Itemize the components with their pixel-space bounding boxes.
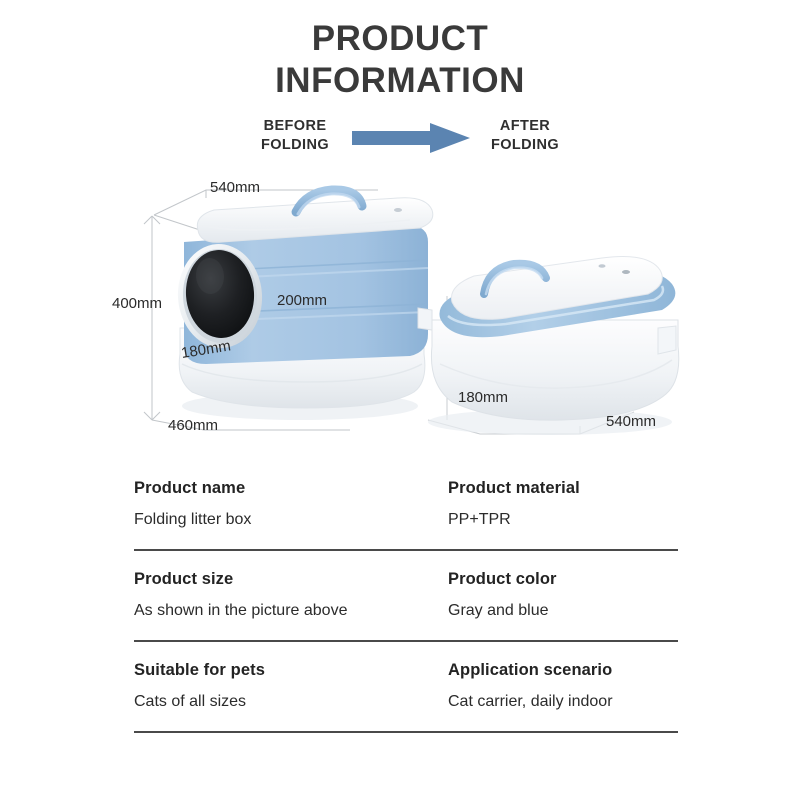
spec-row: Product size As shown in the picture abo… [134, 569, 678, 660]
spec-value: As shown in the picture above [134, 601, 454, 621]
spec-row-divider [134, 549, 678, 551]
spec-key: Suitable for pets [134, 660, 454, 680]
dimension-label-200mm: 200mm [277, 292, 327, 309]
arrow-right-icon [352, 123, 470, 153]
dimension-label-540mm-top: 540mm [210, 179, 260, 196]
after-folding-label: AFTER FOLDING [470, 117, 580, 155]
spec-value: PP+TPR [448, 510, 768, 530]
dimension-label-400mm: 400mm [112, 295, 162, 312]
spec-cell-product-color: Product color Gray and blue [448, 569, 768, 621]
spec-key: Product name [134, 478, 454, 498]
dimension-label-540mm-folded: 540mm [606, 413, 656, 430]
page-title-line-1: PRODUCT [0, 18, 800, 60]
spec-value: Cats of all sizes [134, 692, 454, 712]
spec-cell-application-scenario: Application scenario Cat carrier, daily … [448, 660, 768, 712]
spec-key: Product color [448, 569, 768, 589]
before-folding-label: BEFORE FOLDING [240, 117, 350, 155]
before-folding-line-2: FOLDING [240, 136, 350, 155]
spec-row: Suitable for pets Cats of all sizes Appl… [134, 660, 678, 751]
spec-value: Gray and blue [448, 601, 768, 621]
after-folding-line-1: AFTER [470, 117, 580, 136]
dimension-label-180mm-folded: 180mm [458, 389, 508, 406]
spec-row-divider [134, 731, 678, 733]
spec-key: Application scenario [448, 660, 768, 680]
spec-key: Product material [448, 478, 768, 498]
spec-value: Cat carrier, daily indoor [448, 692, 768, 712]
spec-row: Product name Folding litter box Product … [134, 478, 678, 569]
before-folding-line-1: BEFORE [240, 117, 350, 136]
page-header: PRODUCT INFORMATION [0, 18, 800, 102]
page-title-line-2: INFORMATION [0, 60, 800, 102]
product-illustration: 540mm 400mm 200mm 180mm 460mm [110, 168, 690, 468]
spec-cell-product-material: Product material PP+TPR [448, 478, 768, 530]
folding-stage-row: BEFORE FOLDING AFTER FOLDING [240, 115, 580, 161]
spec-cell-product-name: Product name Folding litter box [134, 478, 454, 530]
spec-cell-suitable-for-pets: Suitable for pets Cats of all sizes [134, 660, 454, 712]
folded-litter-box [428, 257, 679, 436]
dimension-label-460mm: 460mm [168, 417, 218, 434]
after-folding-line-2: FOLDING [470, 136, 580, 155]
spec-cell-product-size: Product size As shown in the picture abo… [134, 569, 454, 621]
spec-key: Product size [134, 569, 454, 589]
spec-row-divider [134, 640, 678, 642]
spec-value: Folding litter box [134, 510, 454, 530]
specification-table: Product name Folding litter box Product … [134, 478, 678, 751]
